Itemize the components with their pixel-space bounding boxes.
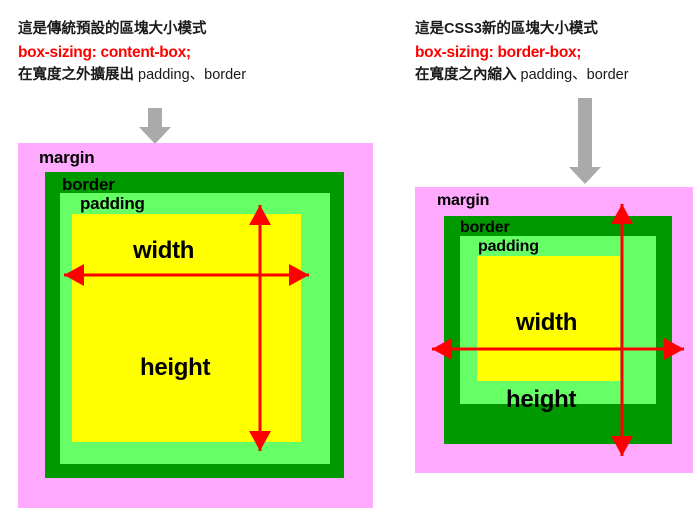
measure-line [432,348,684,351]
arrow-head-left [64,264,84,286]
down-arrow-icon [139,108,171,144]
right-label-margin: margin [437,192,489,209]
right-caption-code: box-sizing: border-box; [415,41,629,64]
right-border-box: border padding width height [444,216,672,444]
left-content-box: width height [72,214,301,442]
left-margin-box: margin border padding width [18,143,373,508]
arrow-shaft [148,108,162,128]
left-caption-code: box-sizing: content-box; [18,41,246,64]
arrow-head-top [249,205,271,225]
left-label-padding: padding [80,195,145,212]
left-caption-line-3: 在寬度之外擴展出 padding、border [18,64,246,87]
right-height-measure-arrow [611,204,633,456]
right-label-padding: padding [478,238,539,255]
arrow-head-top [611,204,633,224]
left-width-label: width [133,239,194,263]
arrow-head-bottom [611,436,633,456]
left-caption-line-1: 這是傳統預設的區塊大小模式 [18,18,246,41]
down-arrow-icon [569,98,601,184]
left-padding-box: padding width height [60,193,330,464]
right-caption-line-1: 這是CSS3新的區塊大小模式 [415,18,629,41]
left-height-measure-arrow [249,205,271,451]
diagram-canvas: 這是傳統預設的區塊大小模式 box-sizing: content-box; 在… [0,0,700,514]
right-caption-block: 這是CSS3新的區塊大小模式 box-sizing: border-box; 在… [415,18,629,87]
right-width-measure-arrow [432,338,684,360]
left-label-border: border [62,176,115,193]
arrow-head [139,127,171,144]
right-label-border: border [460,219,509,236]
right-caption-line-3-bold: 在寬度之內縮入 [415,67,517,83]
left-caption-block: 這是傳統預設的區塊大小模式 box-sizing: content-box; 在… [18,18,246,87]
arrow-shaft [578,98,592,168]
left-height-label: height [140,356,210,380]
arrow-head-right [664,338,684,360]
right-caption-line-3-rest: padding、border [517,67,629,83]
left-caption-line-3-bold: 在寬度之外擴展出 [18,67,134,83]
right-width-label: width [516,311,577,335]
arrow-head-left [432,338,452,360]
left-border-box: border padding width [45,172,344,478]
left-label-margin: margin [39,149,94,166]
measure-line [259,205,262,451]
right-caption-line-3: 在寬度之內縮入 padding、border [415,64,629,87]
measure-line [621,204,624,456]
arrow-head [569,167,601,184]
arrow-head-bottom [249,431,271,451]
right-margin-box: margin border padding width height [415,187,693,473]
right-height-label: height [506,388,576,412]
left-caption-line-3-rest: padding、border [134,67,246,83]
left-width-measure-arrow [64,264,309,286]
arrow-head-right [289,264,309,286]
measure-line [64,274,309,277]
